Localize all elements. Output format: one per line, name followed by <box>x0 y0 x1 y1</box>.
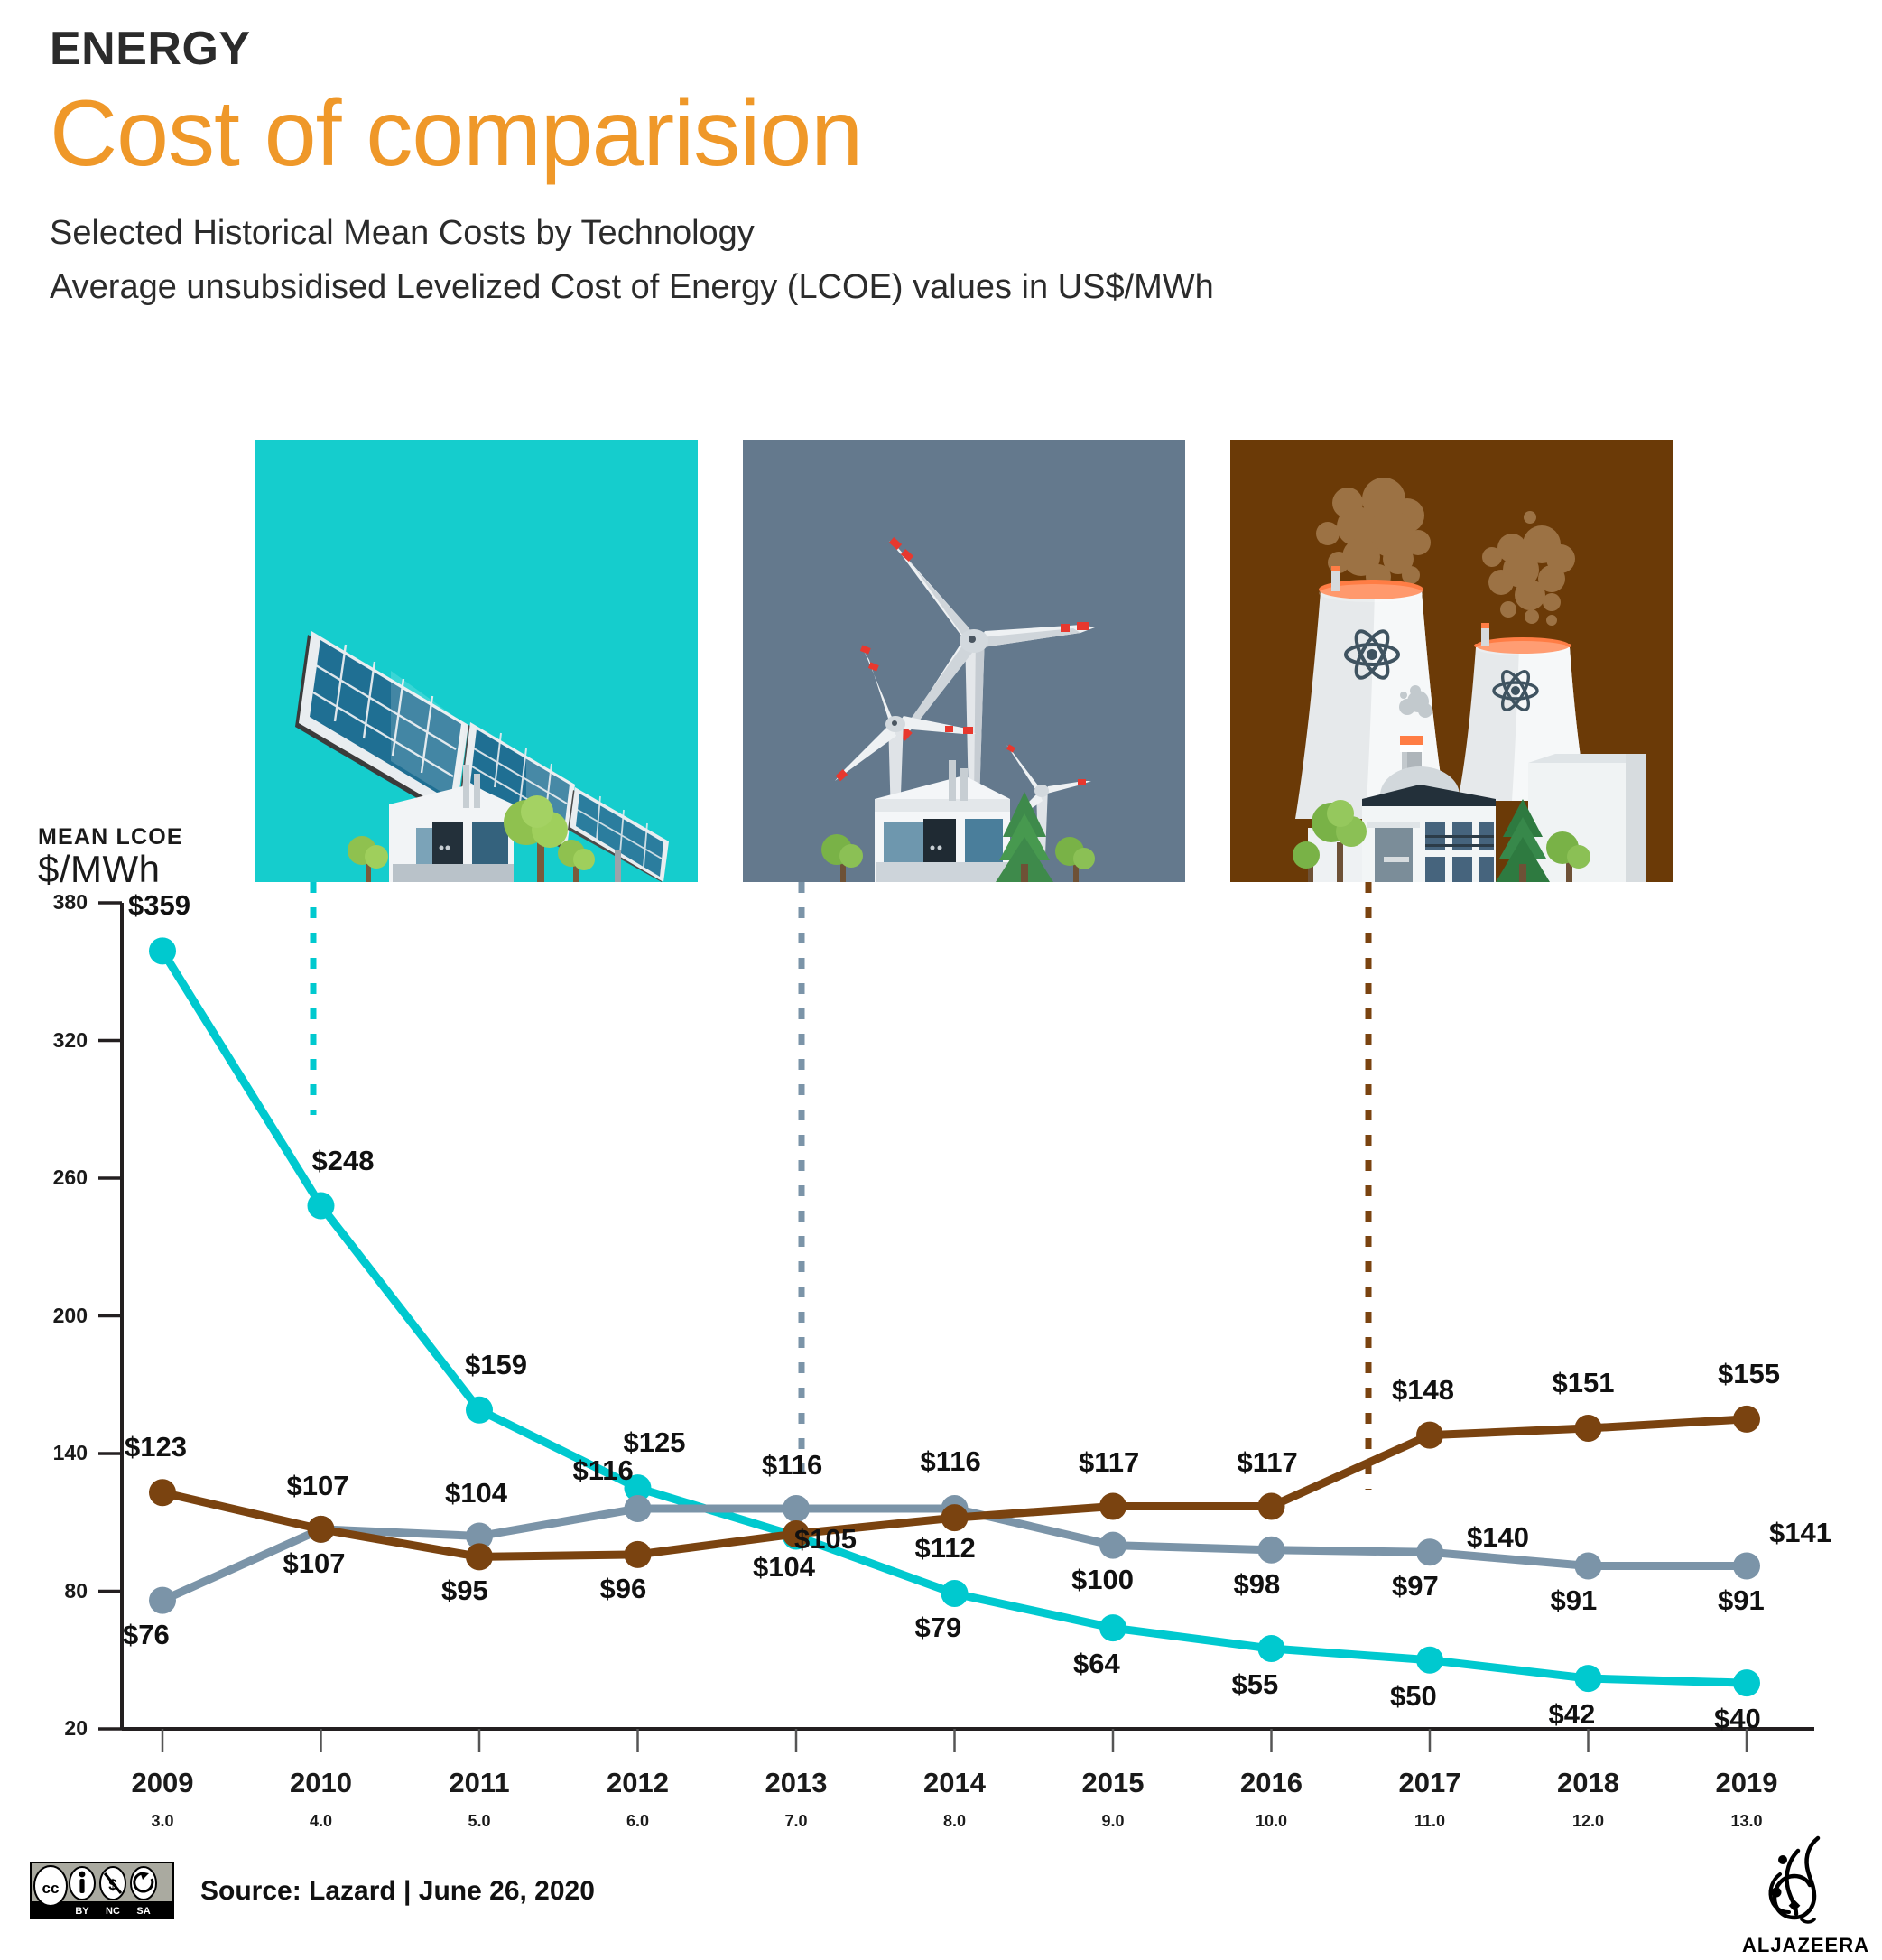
data-point-wind-2010 <box>308 1516 335 1543</box>
point-label-nuclear-2012: $96 <box>600 1573 647 1605</box>
data-point-nuclear-2017 <box>1416 1422 1443 1449</box>
point-label-solar-2013: $104 <box>753 1551 815 1584</box>
data-point-solar-2011 <box>466 1397 493 1424</box>
y-tick-label: 320 <box>24 1028 88 1053</box>
point-label-wind-2018: $91 <box>1551 1584 1598 1617</box>
y-axis-caption: MEAN LCOE $/MWh <box>38 826 183 888</box>
svg-text:cc: cc <box>42 1880 60 1897</box>
data-point-wind-2015 <box>1099 1532 1126 1559</box>
point-label-solar-2010: $248 <box>312 1145 375 1177</box>
data-point-solar-2010 <box>308 1193 335 1220</box>
x-secondary-label: 9.0 <box>1041 1812 1185 1831</box>
y-tick-label: 380 <box>24 890 88 915</box>
point-label-wind-2019: $91 <box>1718 1584 1765 1617</box>
infographic-header: ENERGY Cost of comparision Selected Hist… <box>50 25 1765 312</box>
point-label-solar-2019: $40 <box>1714 1703 1761 1735</box>
y-axis-caption-line2: $/MWh <box>38 850 183 888</box>
x-tick-label: 2011 <box>407 1767 552 1799</box>
data-point-wind-2012 <box>625 1495 652 1522</box>
page-title: Cost of comparision <box>50 81 1765 186</box>
point-label-nuclear-2018: $151 <box>1553 1367 1615 1399</box>
point-label-wind-2017: $97 <box>1392 1570 1439 1602</box>
aljazeera-logo: ALJAZEERA <box>1742 1833 1855 1960</box>
point-label-nuclear-2017: $148 <box>1392 1374 1454 1407</box>
cc-license-icon: cc $ BY NC SA <box>30 1862 174 1919</box>
point-label-solar-2009: $359 <box>128 889 190 922</box>
point-label-solar-2015: $64 <box>1073 1648 1120 1680</box>
kicker-label: ENERGY <box>50 25 1765 72</box>
x-secondary-label: 5.0 <box>407 1812 552 1831</box>
point-label-nuclear-2011: $95 <box>441 1575 488 1607</box>
infographic-footer: cc $ BY NC SA Source: Lazard | June 26, … <box>0 1842 1882 1960</box>
point-label-nuclear-2016: $117 <box>1238 1446 1298 1479</box>
data-point-nuclear-2016 <box>1258 1492 1285 1519</box>
x-secondary-label: 13.0 <box>1674 1812 1819 1831</box>
wind-turbine-illustration <box>743 440 1185 882</box>
x-secondary-label: 7.0 <box>724 1812 868 1831</box>
point-label-nuclear-2010: $107 <box>283 1547 346 1580</box>
data-point-nuclear-2019 <box>1733 1406 1760 1433</box>
data-point-solar-2014 <box>941 1580 969 1607</box>
point-label-wind-2013: $116 <box>762 1449 822 1482</box>
series-line-nuclear <box>162 1419 1747 1557</box>
data-point-solar-2017 <box>1416 1647 1443 1674</box>
chart-annotation: $140 <box>1467 1521 1529 1554</box>
nuclear-plant-illustration <box>1230 440 1673 882</box>
svg-text:NC: NC <box>106 1906 120 1917</box>
y-tick-label: 260 <box>24 1166 88 1190</box>
x-tick-label: 2017 <box>1358 1767 1502 1799</box>
data-point-wind-2014 <box>941 1495 969 1522</box>
x-secondary-label: 11.0 <box>1358 1812 1502 1831</box>
x-tick-label: 2015 <box>1041 1767 1185 1799</box>
data-point-solar-2018 <box>1575 1665 1602 1692</box>
x-tick-label: 2019 <box>1674 1767 1819 1799</box>
y-tick-label: 80 <box>24 1579 88 1603</box>
x-secondary-label: 3.0 <box>90 1812 235 1831</box>
x-tick-label: 2010 <box>249 1767 394 1799</box>
data-point-nuclear-2012 <box>625 1541 652 1568</box>
data-point-solar-2016 <box>1258 1635 1285 1662</box>
data-point-solar-2019 <box>1733 1669 1760 1696</box>
data-point-nuclear-2013 <box>783 1520 810 1547</box>
y-axis-caption-line1: MEAN LCOE <box>38 826 183 849</box>
x-secondary-label: 4.0 <box>249 1812 394 1831</box>
data-point-wind-2009 <box>149 1587 176 1614</box>
point-label-wind-2014: $116 <box>921 1445 981 1478</box>
data-point-wind-2013 <box>783 1495 810 1522</box>
point-label-wind-2016: $98 <box>1234 1568 1281 1601</box>
x-tick-label: 2013 <box>724 1767 868 1799</box>
x-secondary-label: 12.0 <box>1516 1812 1661 1831</box>
point-label-nuclear-2014: $112 <box>915 1532 976 1565</box>
nuclear-photo <box>1230 440 1673 882</box>
x-tick-label: 2018 <box>1516 1767 1661 1799</box>
data-point-wind-2016 <box>1258 1537 1285 1564</box>
aljazeera-wordmark: ALJAZEERA <box>1742 1934 1855 1957</box>
data-point-nuclear-2015 <box>1099 1492 1126 1519</box>
point-label-solar-2018: $42 <box>1549 1698 1596 1731</box>
point-label-nuclear-2019: $155 <box>1718 1358 1780 1390</box>
point-label-wind-2015: $100 <box>1071 1564 1134 1596</box>
point-label-wind-2011: $104 <box>445 1477 507 1509</box>
point-label-solar-2016: $55 <box>1232 1668 1279 1701</box>
data-point-nuclear-2009 <box>149 1479 176 1506</box>
solar-panel-illustration <box>255 440 698 882</box>
wind-photo <box>743 440 1185 882</box>
point-label-nuclear-2015: $117 <box>1079 1446 1139 1479</box>
data-point-wind-2017 <box>1416 1538 1443 1565</box>
y-tick-label: 200 <box>24 1304 88 1328</box>
data-point-solar-2009 <box>149 937 176 964</box>
point-label-solar-2011: $159 <box>465 1349 527 1381</box>
x-tick-label: 2014 <box>883 1767 1027 1799</box>
y-tick-label: 20 <box>24 1716 88 1741</box>
x-secondary-label: 10.0 <box>1200 1812 1344 1831</box>
x-secondary-label: 8.0 <box>883 1812 1027 1831</box>
svg-text:BY: BY <box>75 1906 89 1917</box>
data-point-nuclear-2010 <box>308 1516 335 1543</box>
aljazeera-calligraphy-icon <box>1742 1833 1855 1932</box>
point-label-solar-2014: $79 <box>915 1612 962 1644</box>
source-credit: Source: Lazard | June 26, 2020 <box>200 1876 595 1907</box>
data-point-solar-2013 <box>783 1523 810 1550</box>
x-tick-label: 2009 <box>90 1767 235 1799</box>
series-line-solar <box>162 951 1747 1683</box>
data-point-solar-2015 <box>1099 1614 1126 1641</box>
point-label-nuclear-2013: $105 <box>794 1523 857 1556</box>
svg-text:SA: SA <box>136 1906 150 1917</box>
solar-photo <box>255 440 698 882</box>
data-point-wind-2019 <box>1733 1553 1760 1580</box>
data-point-nuclear-2014 <box>941 1504 969 1531</box>
data-point-wind-2011 <box>466 1523 493 1550</box>
chart-annotation: $141 <box>1769 1517 1831 1549</box>
point-label-solar-2017: $50 <box>1390 1680 1437 1713</box>
creative-commons-badge: cc $ BY NC SA <box>30 1862 174 1919</box>
data-point-wind-2018 <box>1575 1553 1602 1580</box>
point-label-wind-2010: $107 <box>287 1470 349 1502</box>
data-point-nuclear-2011 <box>466 1543 493 1570</box>
point-label-solar-2012: $125 <box>624 1426 686 1459</box>
x-tick-label: 2012 <box>566 1767 710 1799</box>
y-tick-label: 140 <box>24 1441 88 1465</box>
data-point-nuclear-2018 <box>1575 1415 1602 1442</box>
point-label-wind-2009: $76 <box>123 1619 170 1651</box>
data-point-solar-2012 <box>625 1474 652 1501</box>
chart-axes <box>122 903 1814 1729</box>
subtitle-line-2: Average unsubsidised Levelized Cost of E… <box>50 264 1765 312</box>
point-label-nuclear-2009: $123 <box>125 1431 187 1463</box>
subtitle-line-1: Selected Historical Mean Costs by Techno… <box>50 209 1765 258</box>
series-line-wind <box>162 1509 1747 1601</box>
x-tick-label: 2016 <box>1200 1767 1344 1799</box>
x-secondary-label: 6.0 <box>566 1812 710 1831</box>
point-label-wind-2012: $116 <box>573 1454 634 1487</box>
